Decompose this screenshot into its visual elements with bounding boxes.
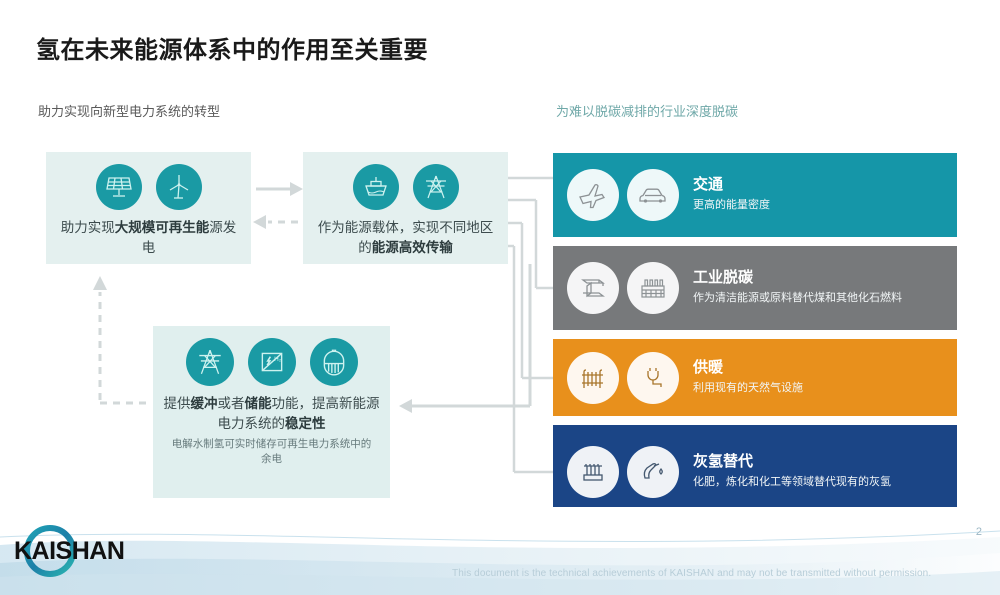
sector-panel-gray-hydrogen-replacement: 灰氢替代 化肥，炼化和化工等领域替代现有的灰氢	[553, 425, 957, 518]
sector-text: 灰氢替代 化肥，炼化和化工等领域替代现有的灰氢	[679, 453, 891, 491]
icon-row: H₂	[153, 326, 390, 386]
test-tubes-icon	[567, 446, 619, 498]
sector-desc: 化肥，炼化和化工等领域替代现有的灰氢	[693, 475, 891, 491]
sector-text: 交通 更高的能量密度	[679, 176, 770, 214]
sector-text: 工业脱碳 作为清洁能源或原料替代煤和其他化石燃料	[679, 269, 902, 307]
page-title: 氢在未来能源体系中的作用至关重要	[36, 30, 428, 65]
sector-title: 供暖	[693, 359, 803, 377]
airplane-icon	[567, 169, 619, 221]
sector-desc: 更高的能量密度	[693, 198, 770, 214]
sector-panel-transportation: 交通 更高的能量密度	[553, 153, 957, 237]
power-plug-icon	[627, 352, 679, 404]
icon-row	[567, 352, 679, 404]
sector-text: 供暖 利用现有的天然气设施	[679, 359, 803, 397]
power-tower-icon	[413, 164, 459, 210]
sector-desc: 作为清洁能源或原料替代煤和其他化石燃料	[693, 291, 902, 307]
svg-text:H₂: H₂	[274, 356, 282, 363]
solar-panel-icon	[96, 164, 142, 210]
flow-box-2-text: 作为能源载体，实现不同地区的能源高效传输	[303, 210, 508, 257]
storage-tank-icon	[310, 338, 358, 386]
sector-title: 灰氢替代	[693, 453, 891, 471]
footer: KAISHAN	[0, 507, 1000, 595]
flow-box-energy-carrier: 作为能源载体，实现不同地区的能源高效传输	[303, 152, 508, 264]
sector-title: 工业脱碳	[693, 269, 902, 287]
icon-row	[567, 169, 679, 221]
icon-row	[567, 446, 679, 498]
flow-box-3-subtext: 电解水制氢可实时储存可再生电力系统中的余电	[153, 433, 390, 466]
flow-box-buffer-storage: H₂ 提供缓冲或者储能功能，提高新能源电力系统的稳定性 电解水制氢可实时储存可再…	[153, 326, 390, 498]
sector-desc: 利用现有的天然气设施	[693, 381, 803, 397]
flow-box-renewable-generation: 助力实现大规模可再生能源发电	[46, 152, 251, 264]
sector-panel-industrial-decarbonization: 工业脱碳 作为清洁能源或原料替代煤和其他化石燃料	[553, 246, 957, 330]
ship-icon	[353, 164, 399, 210]
wind-turbine-icon	[156, 164, 202, 210]
icon-row	[567, 262, 679, 314]
kaishan-logo: KAISHAN	[10, 521, 142, 581]
sector-title: 交通	[693, 176, 770, 194]
icon-row	[46, 152, 251, 210]
footer-wave-decoration	[0, 507, 1000, 595]
icon-row	[303, 152, 508, 210]
flow-box-3-text: 提供缓冲或者储能功能，提高新能源电力系统的稳定性	[153, 386, 390, 433]
steel-beam-icon	[567, 262, 619, 314]
disclaimer-text: This document is the technical achieveme…	[452, 568, 931, 579]
page-number: 2	[976, 526, 982, 538]
h2-electrolyzer-icon: H₂	[248, 338, 296, 386]
subtitle-left: 助力实现向新型电力系统的转型	[38, 101, 220, 120]
sector-panel-heating: 供暖 利用现有的天然气设施	[553, 339, 957, 416]
logo-text: KAISHAN	[14, 537, 124, 565]
slide-canvas: 氢在未来能源体系中的作用至关重要 助力实现向新型电力系统的转型 为难以脱碳减排的…	[0, 0, 1000, 595]
car-icon	[627, 169, 679, 221]
fuel-nozzle-icon	[627, 446, 679, 498]
subtitle-right: 为难以脱碳减排的行业深度脱碳	[556, 101, 738, 120]
flow-box-1-text: 助力实现大规模可再生能源发电	[46, 210, 251, 257]
power-tower-icon	[186, 338, 234, 386]
radiator-icon	[567, 352, 619, 404]
factory-icon	[627, 262, 679, 314]
